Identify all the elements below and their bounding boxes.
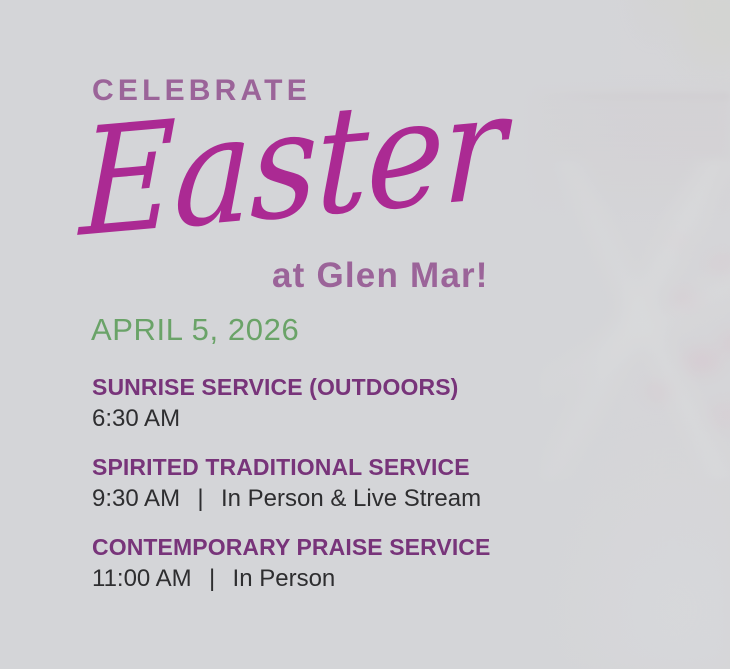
service-item: SPIRITED TRADITIONAL SERVICE 9:30 AM | I… <box>92 454 652 514</box>
service-title: SPIRITED TRADITIONAL SERVICE <box>92 454 652 481</box>
service-title: SUNRISE SERVICE (OUTDOORS) <box>92 374 652 401</box>
headline-subline: at Glen Mar! <box>272 258 489 293</box>
service-title: CONTEMPORARY PRAISE SERVICE <box>92 534 652 561</box>
service-time: 11:00 AM <box>92 565 192 592</box>
service-format: In Person & Live Stream <box>221 485 481 512</box>
service-detail: 6:30 AM <box>92 405 652 434</box>
service-separator: | <box>180 485 221 512</box>
service-item: SUNRISE SERVICE (OUTDOORS) 6:30 AM <box>92 374 652 434</box>
service-time: 9:30 AM <box>92 485 180 512</box>
service-detail: 11:00 AM | In Person <box>92 565 652 594</box>
event-date: APRIL 5, 2026 <box>91 314 299 345</box>
service-detail: 9:30 AM | In Person & Live Stream <box>92 485 652 514</box>
easter-service-poster: CELEBRATE Easter at Glen Mar! APRIL 5, 2… <box>0 0 730 669</box>
headline-script-word: Easter <box>79 73 505 259</box>
service-separator: | <box>192 565 233 592</box>
service-list: SUNRISE SERVICE (OUTDOORS) 6:30 AM SPIRI… <box>92 374 652 594</box>
poster-content: CELEBRATE Easter at Glen Mar! APRIL 5, 2… <box>0 0 730 669</box>
service-format: In Person <box>233 565 336 592</box>
service-time: 6:30 AM <box>92 405 180 432</box>
service-item: CONTEMPORARY PRAISE SERVICE 11:00 AM | I… <box>92 534 652 594</box>
